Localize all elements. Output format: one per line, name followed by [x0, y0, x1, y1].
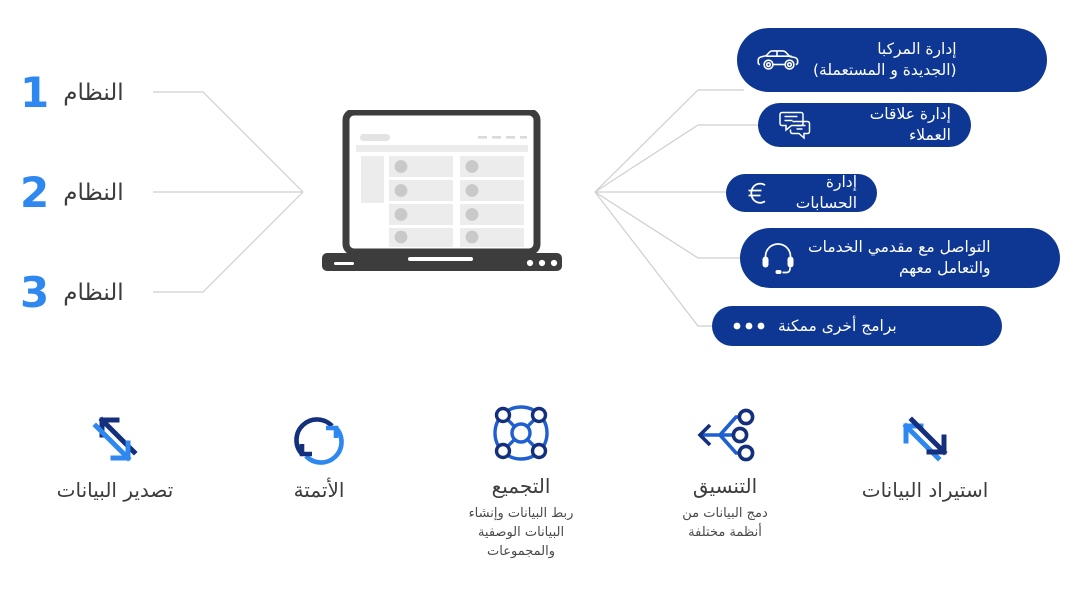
module-pill-service-providers[interactable]: التواصل مع مقدمي الخدمات والتعامل معهم: [740, 228, 1060, 288]
feature-automation: الأتمتة: [229, 408, 409, 509]
feature-title: التجميع: [492, 474, 551, 498]
network-hub-icon: [488, 404, 554, 466]
euro-icon: [746, 180, 768, 206]
feature-subtitle: ربط البيانات وإنشاء البيانات الوصفية وال…: [469, 505, 574, 562]
system-label: النظام: [63, 82, 123, 105]
feature-export-data: تصدير البيانات: [25, 408, 205, 509]
module-pill-crm[interactable]: إدارة علاقات العملاء: [758, 103, 971, 147]
module-pill-label: التواصل مع مقدمي الخدمات والتعامل معهم: [808, 237, 991, 279]
refresh-circle-icon: [290, 408, 348, 470]
feature-import-data: استيراد البيانات: [835, 408, 1015, 509]
module-pill-label: برامج أخرى ممكنة: [778, 316, 897, 337]
system-row-2: 2 النظام: [20, 172, 124, 214]
module-pill-label: إدارة الحسابات: [780, 172, 857, 214]
system-number: 1: [20, 72, 49, 114]
car-icon: [757, 47, 801, 73]
feature-subtitle: دمج البيانات من أنظمة مختلفة: [682, 505, 767, 543]
headset-icon: [760, 240, 796, 276]
feature-title: الأتمتة: [294, 478, 345, 502]
module-pill-vehicle-management[interactable]: إدارة المركبا (الجديدة و المستعملة): [737, 28, 1047, 92]
module-pill-other-programs[interactable]: برامج أخرى ممكنة: [712, 306, 1002, 346]
feature-title: تصدير البيانات: [57, 478, 174, 502]
import-arrows-icon: [894, 408, 956, 470]
feature-coordination: التنسيق دمج البيانات من أنظمة مختلفة: [635, 404, 815, 543]
system-row-1: 1 النظام: [20, 72, 124, 114]
module-pill-accounts[interactable]: إدارة الحسابات: [726, 174, 877, 212]
system-row-3: 3 النظام: [20, 272, 124, 314]
ellipsis-icon: [732, 322, 766, 330]
chat-bubbles-icon: [778, 110, 812, 140]
infographic-canvas: 1 النظام 2 النظام 3 النظام: [0, 0, 1082, 609]
system-label: النظام: [63, 182, 123, 205]
feature-title: استيراد البيانات: [862, 478, 989, 502]
merge-arrow-icon: [692, 404, 758, 466]
system-label: النظام: [63, 282, 123, 305]
system-number: 2: [20, 172, 49, 214]
system-number: 3: [20, 272, 49, 314]
module-pill-label: إدارة المركبا (الجديدة و المستعملة): [813, 39, 957, 81]
feature-aggregation: التجميع ربط البيانات وإنشاء البيانات الو…: [431, 404, 611, 562]
laptop-illustration: [318, 110, 584, 275]
feature-title: التنسيق: [693, 474, 757, 498]
export-arrows-icon: [84, 408, 146, 470]
module-pill-label: إدارة علاقات العملاء: [824, 104, 951, 146]
